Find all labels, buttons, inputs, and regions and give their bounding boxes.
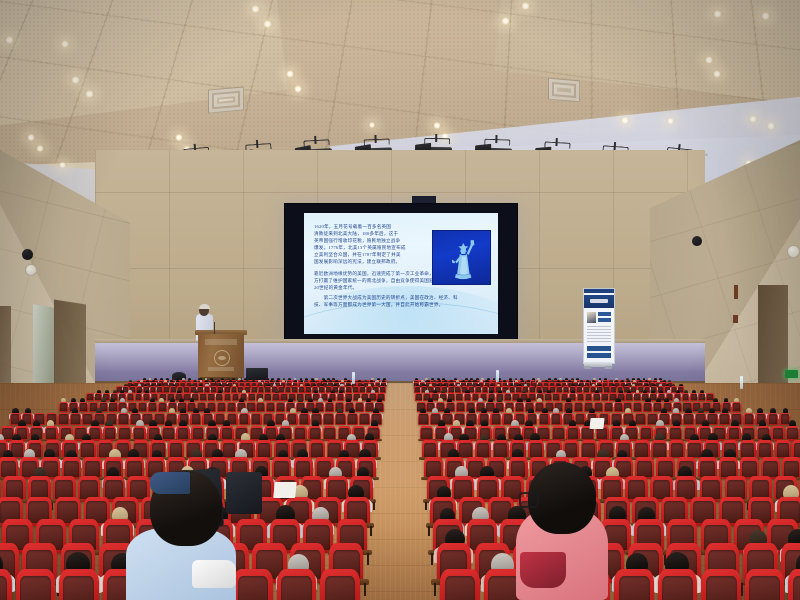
seat-back-panel [193,428,203,439]
seat-back-panel [745,414,754,423]
seat-leg [364,583,366,596]
auditorium-seat[interactable] [786,426,799,441]
auditorium-seat[interactable] [216,393,223,401]
seat-back-panel [445,576,476,600]
auditorium-seat[interactable] [635,413,646,425]
seat-back-panel [300,414,309,423]
seat-back-panel [749,576,780,600]
auditorium-seat[interactable] [103,426,116,441]
seat-back-panel [459,443,471,456]
seat-back-panel [325,576,356,600]
auditorium-seat[interactable] [651,440,667,458]
auditorium-seat[interactable] [16,569,56,600]
auditorium-seat[interactable] [323,413,334,425]
auditorium-seat[interactable] [227,402,236,412]
water-bottle [496,370,499,382]
seat-back-panel [691,394,697,400]
seat-back-panel [119,428,129,439]
seat-back-panel [252,414,261,423]
auditorium-seat[interactable] [625,393,632,401]
auditorium-seat[interactable] [127,393,134,401]
seat-back-panel [683,394,689,400]
seat-back-panel [265,387,270,392]
seat-back-panel [128,394,134,400]
seat-leg [431,553,433,565]
auditorium-seat[interactable] [323,426,336,441]
auditorium-seat[interactable] [418,413,429,425]
seat-back-panel [80,403,87,410]
seat-back-panel [729,428,739,439]
seat-back-panel [455,387,460,392]
seat-back-panel [292,387,297,392]
auditorium-seat[interactable] [217,402,226,412]
auditorium-seat[interactable] [594,402,603,412]
seat-back-panel [311,443,323,456]
auditorium-seat[interactable] [552,426,565,441]
seat-back-panel [641,428,651,439]
sneaker [192,560,236,588]
seat-back-panel [310,428,320,439]
seat-back-panel [171,387,176,392]
seat-back-panel [119,414,128,423]
auditorium-seat[interactable] [683,413,694,425]
seat-back-panel [306,387,311,392]
auditorium-seat[interactable] [504,393,511,401]
auditorium-seat[interactable] [604,402,613,412]
auditorium-seat[interactable] [420,426,433,441]
backpack [226,472,262,514]
auditorium-seat[interactable] [59,402,68,412]
document-sheet [589,418,604,429]
seat-back-panel [733,403,740,410]
auditorium-seat[interactable] [200,393,207,401]
seat-back-panel [360,387,365,392]
seat-back-panel [238,576,269,600]
auditorium-seat[interactable] [299,413,310,425]
seat-back-panel [634,394,640,400]
hair-accessory [150,472,190,494]
seat-back-panel [564,387,569,392]
seat-leg [373,502,375,511]
auditorium-seat[interactable] [239,413,250,425]
auditorium-seat[interactable] [109,402,118,412]
seat-back-panel [634,403,641,410]
auditorium-seat[interactable] [614,569,654,600]
seat-back-panel [218,403,225,410]
seat-back-panel [483,387,488,392]
seat-back-panel [781,414,790,423]
seat-back-panel [90,428,100,439]
seat-back-panel [170,443,182,456]
seat-back-panel [232,387,237,392]
seat-back-panel [670,428,680,439]
seat-back-panel [432,394,438,400]
seat-back-panel [326,403,333,410]
seat-back-panel [619,576,650,600]
seat-back-panel [426,461,441,477]
auditorium-seat[interactable] [309,440,325,458]
auditorium-seat[interactable] [176,426,189,441]
seat-back-panel [553,394,559,400]
seat-back-panel [568,428,578,439]
auditorium-seat[interactable] [456,393,463,401]
seat-back-panel [95,394,101,400]
seat-back-panel [249,394,255,400]
seat-back-panel [295,428,305,439]
seat-back-panel [46,428,56,439]
auditorium-seat[interactable] [415,393,422,401]
auditorium-seat[interactable] [698,393,705,401]
auditorium-seat[interactable] [325,402,334,412]
seat-back-panel [216,394,222,400]
seat-back-panel [582,443,594,456]
seat-leg [428,526,430,536]
seat-back-panel [457,403,464,410]
seat-back-panel [688,443,700,456]
auditorium-seat[interactable] [247,402,256,412]
seat-back-panel [259,387,264,392]
seat-back-panel [671,443,683,456]
auditorium-seat[interactable] [256,402,265,412]
seat-back-panel [85,461,100,477]
auditorium-seat[interactable] [457,440,473,458]
auditorium-seat[interactable] [264,393,271,401]
auditorium-seat[interactable] [745,569,785,600]
auditorium-seat[interactable] [162,426,175,441]
auditorium-seat[interactable] [0,569,12,600]
seat-back-panel [274,461,289,477]
auditorium-seat[interactable] [701,569,741,600]
auditorium-seat[interactable] [719,413,730,425]
auditorium-seat[interactable] [792,440,800,458]
seat-back-panel [492,414,501,423]
auditorium-seat[interactable] [355,402,364,412]
auditorium-seat[interactable] [280,393,287,401]
seat-back-panel [192,414,201,423]
seat-back-panel [267,403,274,410]
seat-back-panel [419,414,428,423]
seat-back-panel [184,387,189,392]
seat-back-panel [223,443,235,456]
seat-back-panel [577,387,582,392]
seat-back-panel [279,387,284,392]
seat-back-panel [575,403,582,410]
seat-back-panel [281,576,312,600]
auditorium-seat[interactable] [294,426,307,441]
seat-back-panel [654,403,661,410]
seat-back-panel [151,387,156,392]
auditorium-seat[interactable] [757,440,773,458]
auditorium-seat[interactable] [138,402,147,412]
auditorium-seat[interactable] [168,440,184,458]
auditorium-seat[interactable] [528,440,544,458]
seat-back-panel [109,403,116,410]
seat-back-panel [225,394,231,400]
seat-back-panel [240,414,249,423]
auditorium-seat[interactable] [732,402,741,412]
seat-back-panel [615,403,622,410]
auditorium-seat[interactable] [86,393,93,401]
seat-back-panel [252,387,257,392]
auditorium-photo: 1620年，五月花号载着一百多名英国 清教徒来到北美大陆，180多年后，这于 英… [0,0,800,600]
seat-back-panel [163,428,173,439]
auditorium-seat[interactable] [577,393,584,401]
auditorium-seat[interactable] [233,569,273,600]
auditorium-seat[interactable] [422,440,438,458]
seat-back-panel [516,403,523,410]
auditorium-seat[interactable] [740,440,756,458]
auditorium-seat[interactable] [634,393,641,401]
seat-back-panel [288,414,297,423]
auditorium-seat[interactable] [551,413,562,425]
auditorium-seat[interactable] [191,426,204,441]
auditorium-seat[interactable] [135,393,142,401]
seat-back-panel [530,443,542,456]
auditorium-seat[interactable] [208,393,215,401]
auditorium-seat[interactable] [335,413,346,425]
seat-back-panel [604,387,609,392]
seat-back-panel [469,387,474,392]
auditorium-seat[interactable] [347,413,358,425]
auditorium-seat[interactable] [553,393,560,401]
seat-back-panel [222,428,232,439]
seat-back-panel [720,414,729,423]
seat-back-panel [595,403,602,410]
seat-back-panel [706,576,737,600]
seat-back-panel [773,428,783,439]
seat-back-panel [777,443,789,456]
seat-back-panel [178,428,188,439]
seat-back-panel [59,414,68,423]
seat-back-panel [348,414,357,423]
seat-back-panel [211,387,216,392]
seat-back-panel [565,443,577,456]
auditorium-seat[interactable] [248,393,255,401]
auditorium-seat[interactable] [220,426,233,441]
seat-back-panel [273,394,279,400]
seat-back-panel [346,387,351,392]
seat-back-panel [421,428,431,439]
seat-back-panel [741,443,753,456]
seat-back-panel [488,576,519,600]
auditorium-seat[interactable] [266,402,275,412]
seat-back-panel [319,387,324,392]
seat-back-panel [708,414,717,423]
seat-back-panel [602,394,608,400]
seat-back-panel [626,394,632,400]
auditorium-seat[interactable] [148,402,157,412]
auditorium-seat[interactable] [574,402,583,412]
seat-leg [425,502,427,511]
auditorium-seat[interactable] [743,413,754,425]
auditorium-seat[interactable] [277,569,317,600]
seat-back-panel [424,443,436,456]
auditorium-seat[interactable] [727,426,740,441]
auditorium-seat[interactable] [456,402,465,412]
seat-back-panel [742,461,757,477]
auditorium-seat[interactable] [581,440,597,458]
seat-back-panel [1,461,16,477]
seat-back-panel [415,387,420,392]
seat-back-panel [538,428,548,439]
auditorium-seat[interactable] [79,402,88,412]
seat-back-panel [494,443,506,456]
seat-back-panel [277,403,284,410]
seat-back-panel [299,387,304,392]
seat-back-panel [648,414,657,423]
seat-leg [370,526,372,536]
seat-back-panel [286,387,291,392]
auditorium-seat[interactable] [767,413,778,425]
auditorium-seat[interactable] [440,569,480,600]
seat-back-panel [208,394,214,400]
seat-back-panel [60,403,67,410]
auditorium-seat[interactable] [493,440,509,458]
auditorium-seat[interactable] [308,426,321,441]
seat-back-panel [456,394,462,400]
seat-back-panel [545,394,551,400]
seat-back-panel [139,403,146,410]
seat-back-panel [360,414,369,423]
auditorium-seat[interactable] [545,393,552,401]
seat-back-panel [557,387,562,392]
seat-leg [434,583,436,596]
auditorium-seat[interactable] [70,413,81,425]
seat-back-panel [127,461,142,477]
seat-back-panel [552,414,561,423]
water-bottle [352,372,355,384]
seat-back-panel [416,394,422,400]
seat-back-panel [505,394,511,400]
auditorium-seat[interactable] [256,440,272,458]
water-bottle [740,376,743,389]
seat-back-panel [530,387,535,392]
seat-back-panel [611,387,616,392]
auditorium-seat[interactable] [320,569,360,600]
seat-back-panel [20,576,51,600]
seat-back-panel [636,414,645,423]
seat-back-panel [511,461,526,477]
seat-back-panel [149,403,156,410]
auditorium-seat[interactable] [276,402,285,412]
auditorium-seat[interactable] [788,569,800,600]
auditorium-seat[interactable] [669,440,685,458]
seat-back-panel [233,394,239,400]
seat-back-panel [793,576,800,600]
auditorium-seat[interactable] [475,440,491,458]
auditorium-seat[interactable] [775,440,791,458]
seat-back-panel [200,394,206,400]
auditorium-seat[interactable] [515,402,524,412]
auditorium-seat[interactable] [640,426,653,441]
auditorium-seat[interactable] [601,393,608,401]
seat-back-panel [759,443,771,456]
seat-back-panel [510,387,515,392]
seat-back-panel [205,387,210,392]
auditorium-seat[interactable] [158,402,167,412]
seat-back-panel [81,443,93,456]
seat-back-panel [684,414,693,423]
seat-back-panel [356,403,363,410]
auditorium-seat[interactable] [337,393,344,401]
seat-back-panel [784,461,799,477]
auditorium-seat[interactable] [118,413,129,425]
auditorium-seat[interactable] [59,569,99,600]
auditorium-seat[interactable] [690,393,697,401]
document-sheet [273,482,297,498]
handbag [520,552,566,588]
auditorium-seat[interactable] [490,413,501,425]
seat-back-panel [258,443,270,456]
auditorium-seat[interactable] [80,440,96,458]
seat-back-panel [338,394,344,400]
auditorium-seat[interactable] [585,393,592,401]
seat-back-panel [553,428,563,439]
seat-back-panel [550,387,555,392]
seat-back-panel [769,414,778,423]
seat-back-panel [465,394,471,400]
seat-back-panel [0,576,7,600]
seat-back-panel [787,428,797,439]
auditorium-seat[interactable] [658,569,698,600]
seat-back-panel [635,443,647,456]
seat-back-panel [584,387,589,392]
seat-back-panel [597,428,607,439]
seat-back-panel [281,394,287,400]
auditorium-seat[interactable] [614,402,623,412]
seat-back-panel [707,394,713,400]
auditorium-seat[interactable] [634,440,650,458]
auditorium-seat[interactable] [682,393,689,401]
auditorium-seat[interactable] [224,393,231,401]
seat-back-panel [699,394,705,400]
seat-leg [367,553,369,565]
auditorium-seat[interactable] [58,413,69,425]
seat-back-panel [324,428,334,439]
auditorium-seat[interactable] [633,402,642,412]
seat-back-panel [155,414,164,423]
auditorium-seat[interactable] [593,393,600,401]
seat-back-panel [265,394,271,400]
seat-back-panel [296,461,311,477]
seat-back-panel [653,443,665,456]
auditorium-seat[interactable] [133,426,146,441]
auditorium-seat[interactable] [643,402,652,412]
auditorium-seat[interactable] [669,426,682,441]
auditorium-seat[interactable] [251,413,262,425]
seat-back-panel [64,461,79,477]
auditorium-seat[interactable] [118,426,131,441]
auditorium-seat[interactable] [539,413,550,425]
seat-back-panel [164,387,169,392]
seat-back-panel [594,394,600,400]
auditorium-seat[interactable] [464,393,471,401]
auditorium-seat[interactable] [566,426,579,441]
seat-back-panel [449,387,454,392]
seat-back-panel [134,428,144,439]
seat-back-panel [105,428,115,439]
auditorium-seat[interactable] [771,426,784,441]
auditorium-seat[interactable] [190,413,201,425]
seat-back-panel [247,403,254,410]
auditorium-seat[interactable] [359,413,370,425]
auditorium-seat[interactable] [45,426,58,441]
seat-back-panel [477,443,489,456]
seat-back-panel [144,394,150,400]
seat-back-panel [763,461,778,477]
auditorium-seat[interactable] [272,393,279,401]
seat-back-panel [644,403,651,410]
